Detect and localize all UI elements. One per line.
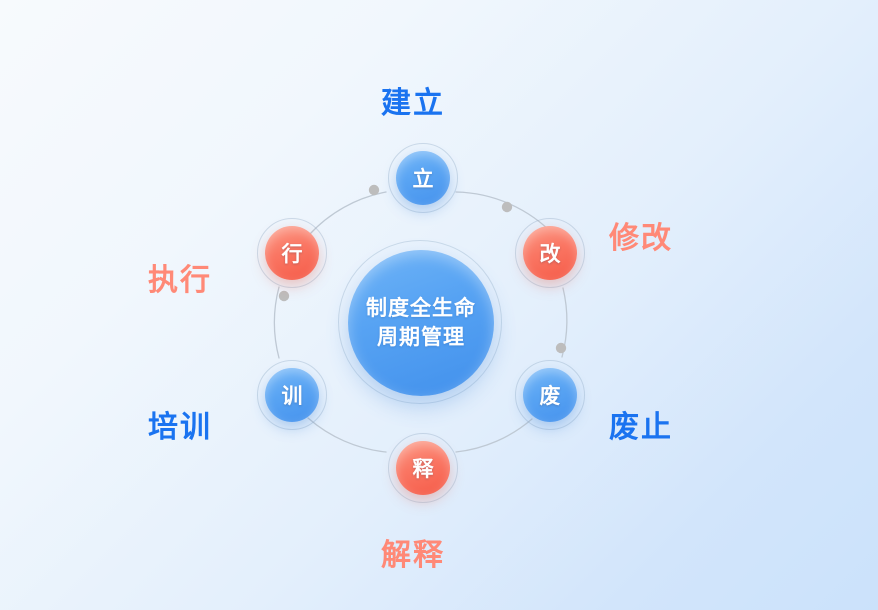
arc-train-execute — [274, 287, 279, 358]
lifecycle-hub-disc: 制度全生命 周期管理 — [348, 250, 494, 396]
diagram-canvas: 制度全生命 周期管理 立 建立 改 修改 废 废止 释 解释 训 培训 行 执行 — [0, 0, 878, 610]
node-execute[interactable]: 行 — [257, 218, 327, 288]
hub-title-line-2: 周期管理 — [377, 323, 465, 352]
node-abolish-glyph: 废 — [523, 368, 577, 422]
arc-interpret-train — [308, 418, 386, 452]
node-revise-glyph: 改 — [523, 226, 577, 280]
label-interpret: 解释 — [381, 530, 445, 574]
ring-dot-nw — [369, 185, 379, 195]
label-abolish: 废止 — [609, 402, 673, 446]
node-revise[interactable]: 改 — [515, 218, 585, 288]
node-establish[interactable]: 立 — [388, 143, 458, 213]
node-train-glyph: 训 — [265, 368, 319, 422]
arc-execute-establish — [309, 192, 386, 235]
node-abolish[interactable]: 废 — [515, 360, 585, 430]
node-interpret[interactable]: 释 — [388, 433, 458, 503]
node-interpret-glyph: 释 — [396, 441, 450, 495]
node-train[interactable]: 训 — [257, 360, 327, 430]
label-train: 培训 — [148, 402, 212, 446]
node-establish-glyph: 立 — [396, 151, 450, 205]
label-revise: 修改 — [609, 213, 673, 257]
ring-dot-ne — [502, 202, 512, 212]
ring-dot-w — [279, 291, 289, 301]
node-execute-glyph: 行 — [265, 226, 319, 280]
ring-dot-e — [556, 343, 566, 353]
lifecycle-hub[interactable]: 制度全生命 周期管理 — [338, 240, 502, 404]
label-execute: 执行 — [148, 255, 212, 299]
label-establish: 建立 — [381, 78, 445, 122]
arc-abolish-interpret — [456, 419, 532, 452]
hub-title-line-1: 制度全生命 — [366, 294, 476, 323]
